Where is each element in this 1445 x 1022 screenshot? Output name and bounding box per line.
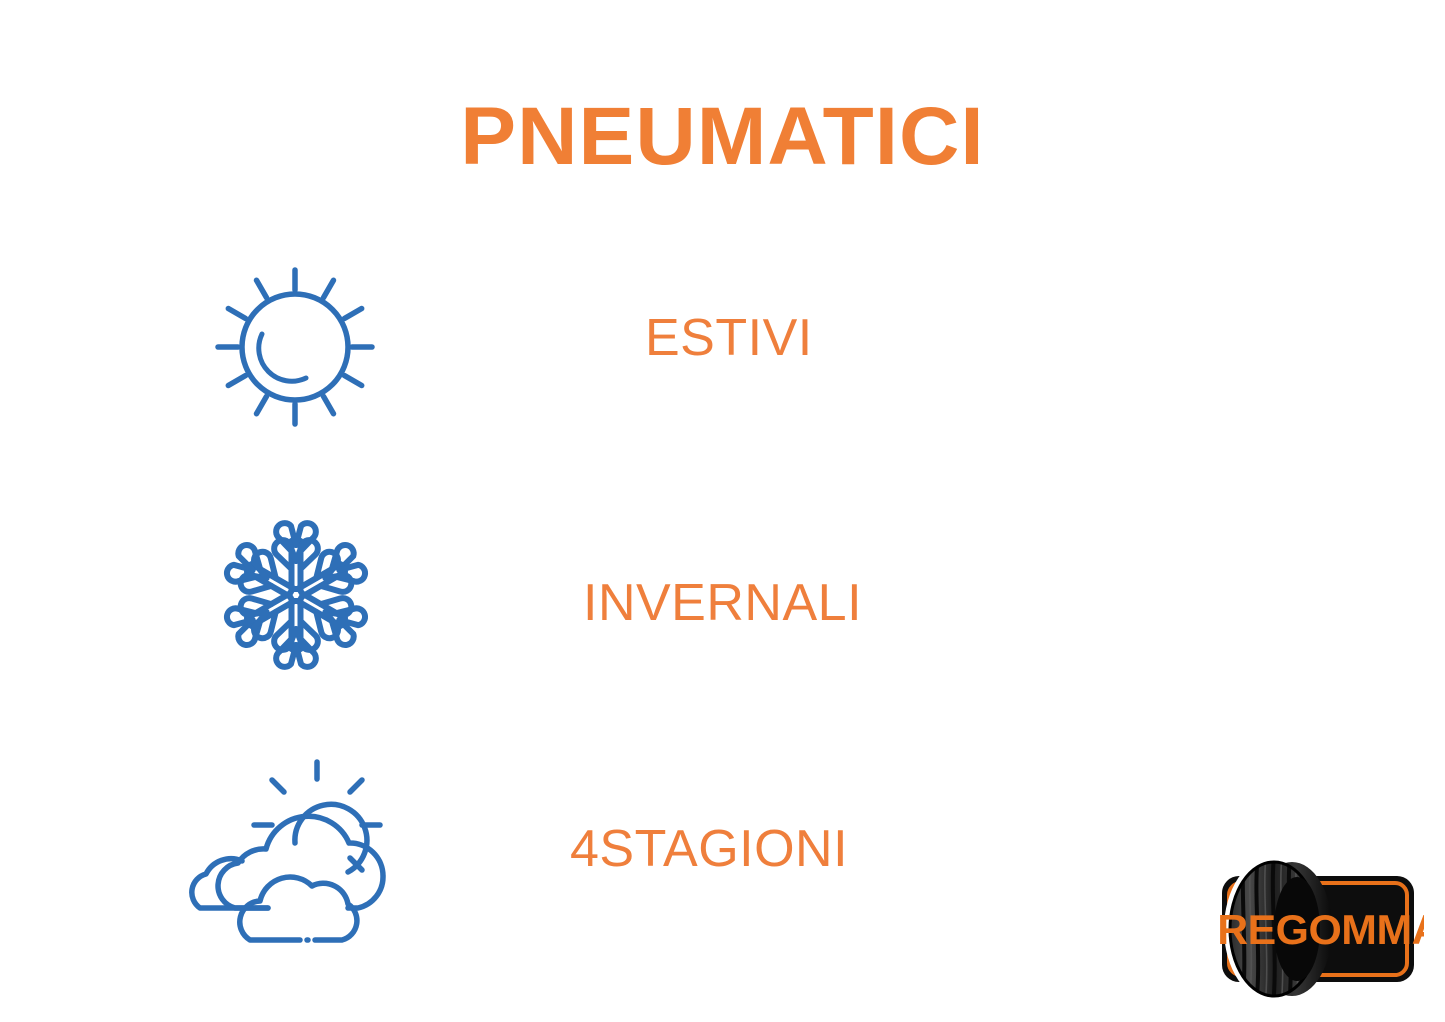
tyre-type-label-4stagioni: 4STAGIONI — [570, 823, 848, 875]
page-title: PNEUMATICI — [0, 96, 1445, 178]
tyre-type-row-invernali: INVERNALI — [0, 495, 1445, 695]
tyre-type-label-estivi: ESTIVI — [645, 312, 813, 364]
logo-brand-text: REGOMMA — [1217, 906, 1424, 953]
tyre-type-label-invernali: INVERNALI — [583, 577, 862, 629]
sun-behind-clouds-icon — [180, 748, 420, 948]
sun-icon — [196, 248, 416, 448]
tyre-type-row-estivi: ESTIVI — [0, 248, 1445, 448]
poster-canvas: PNEUMATICI — [0, 0, 1445, 1022]
regomma-logo: REGOMMA — [1196, 856, 1424, 1002]
snowflake-icon — [196, 495, 416, 695]
